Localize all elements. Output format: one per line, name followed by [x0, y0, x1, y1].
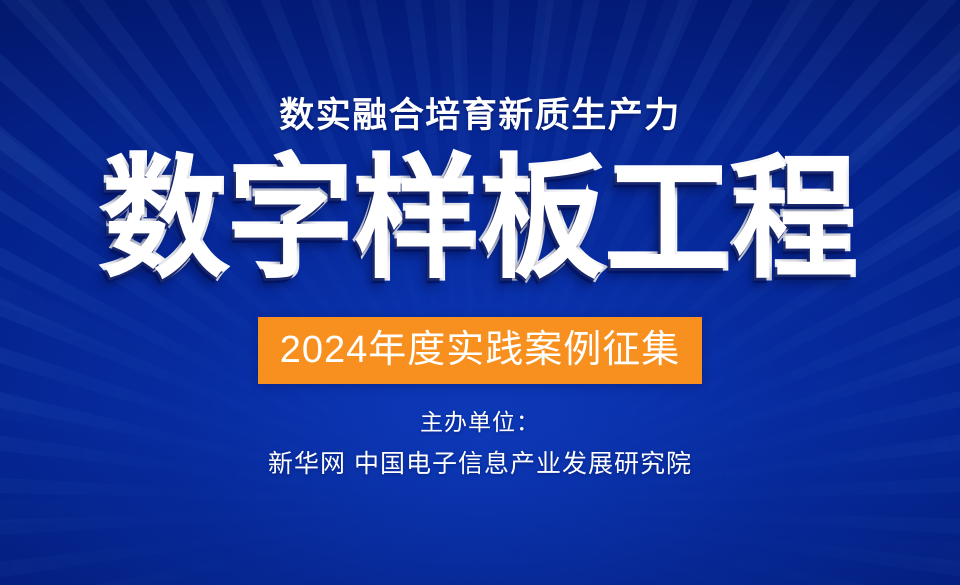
organizer-names: 新华网 中国电子信息产业发展研究院	[268, 452, 692, 477]
call-for-cases-badge: 2024年度实践案例征集	[258, 317, 703, 384]
promotional-banner: 数实融合培育新质生产力 数字样板工程 2024年度实践案例征集 主办单位： 新华…	[0, 0, 960, 585]
banner-main-title: 数字样板工程	[102, 155, 858, 286]
organizer-label: 主办单位：	[420, 411, 540, 434]
banner-subtitle: 数实融合培育新质生产力	[279, 98, 681, 133]
banner-content: 数实融合培育新质生产力 数字样板工程 2024年度实践案例征集 主办单位： 新华…	[0, 0, 960, 585]
